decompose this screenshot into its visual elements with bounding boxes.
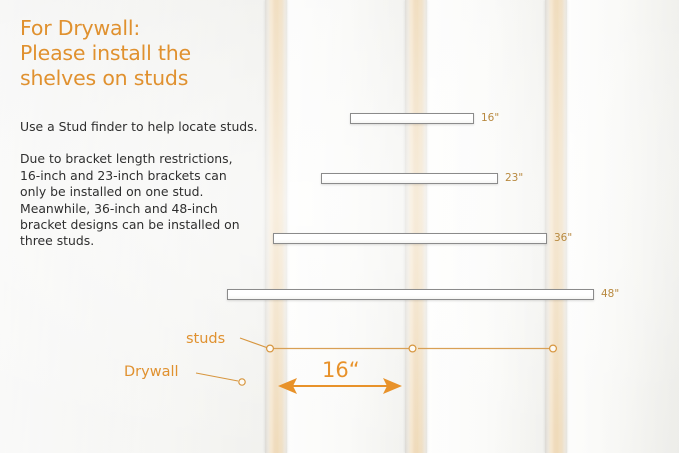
shelf-bar-23 <box>321 173 498 184</box>
drywall-panel-right <box>568 0 679 453</box>
drywall-instruction-diagram: For Drywall: Please install the shelves … <box>0 0 679 453</box>
drywall-panel-mid-right <box>428 0 546 453</box>
arrow-right-icon <box>383 378 402 394</box>
shelf-bar-16 <box>350 113 474 124</box>
callout-label-studs: studs <box>186 331 225 347</box>
shelf-bar-label-36: 36" <box>554 233 572 244</box>
para2-line-1: Due to bracket length restrictions, <box>20 151 233 166</box>
stud-3 <box>545 0 567 453</box>
instruction-paragraph-2: Due to bracket length restrictions, 16-i… <box>20 151 278 249</box>
instruction-paragraph-1: Use a Stud finder to help locate studs. <box>20 119 278 135</box>
shelf-bar-label-23: 23" <box>505 173 523 184</box>
shelf-bar-label-16: 16" <box>481 113 499 124</box>
shelf-bar-48 <box>227 289 594 300</box>
stud-spacing-label: 16“ <box>322 358 360 382</box>
para2-line-6: three studs. <box>20 233 94 248</box>
stud-2 <box>405 0 427 453</box>
para2-line-3: only be installed on one stud. <box>20 184 203 199</box>
para2-line-4: Meanwhile, 36-inch and 48-inch <box>20 201 218 216</box>
para2-line-2: 16-inch and 23-inch brackets can <box>20 168 227 183</box>
callout-dot-icon-drywall <box>239 379 245 385</box>
page-title: For Drywall: Please install the shelves … <box>20 16 270 91</box>
drywall-panel-mid-left <box>288 0 406 453</box>
title-line-1: For Drywall: <box>20 16 270 41</box>
callout-label-drywall: Drywall <box>124 364 179 380</box>
title-line-2: Please install the <box>20 41 270 66</box>
shelf-bar-36 <box>273 233 547 244</box>
shelf-bar-label-48: 48" <box>601 289 619 300</box>
drywall-leader-line <box>196 373 238 381</box>
para2-line-5: bracket designs can be installed on <box>20 217 240 232</box>
instruction-text: Use a Stud finder to help locate studs. … <box>20 119 278 250</box>
title-line-3: shelves on studs <box>20 66 270 91</box>
